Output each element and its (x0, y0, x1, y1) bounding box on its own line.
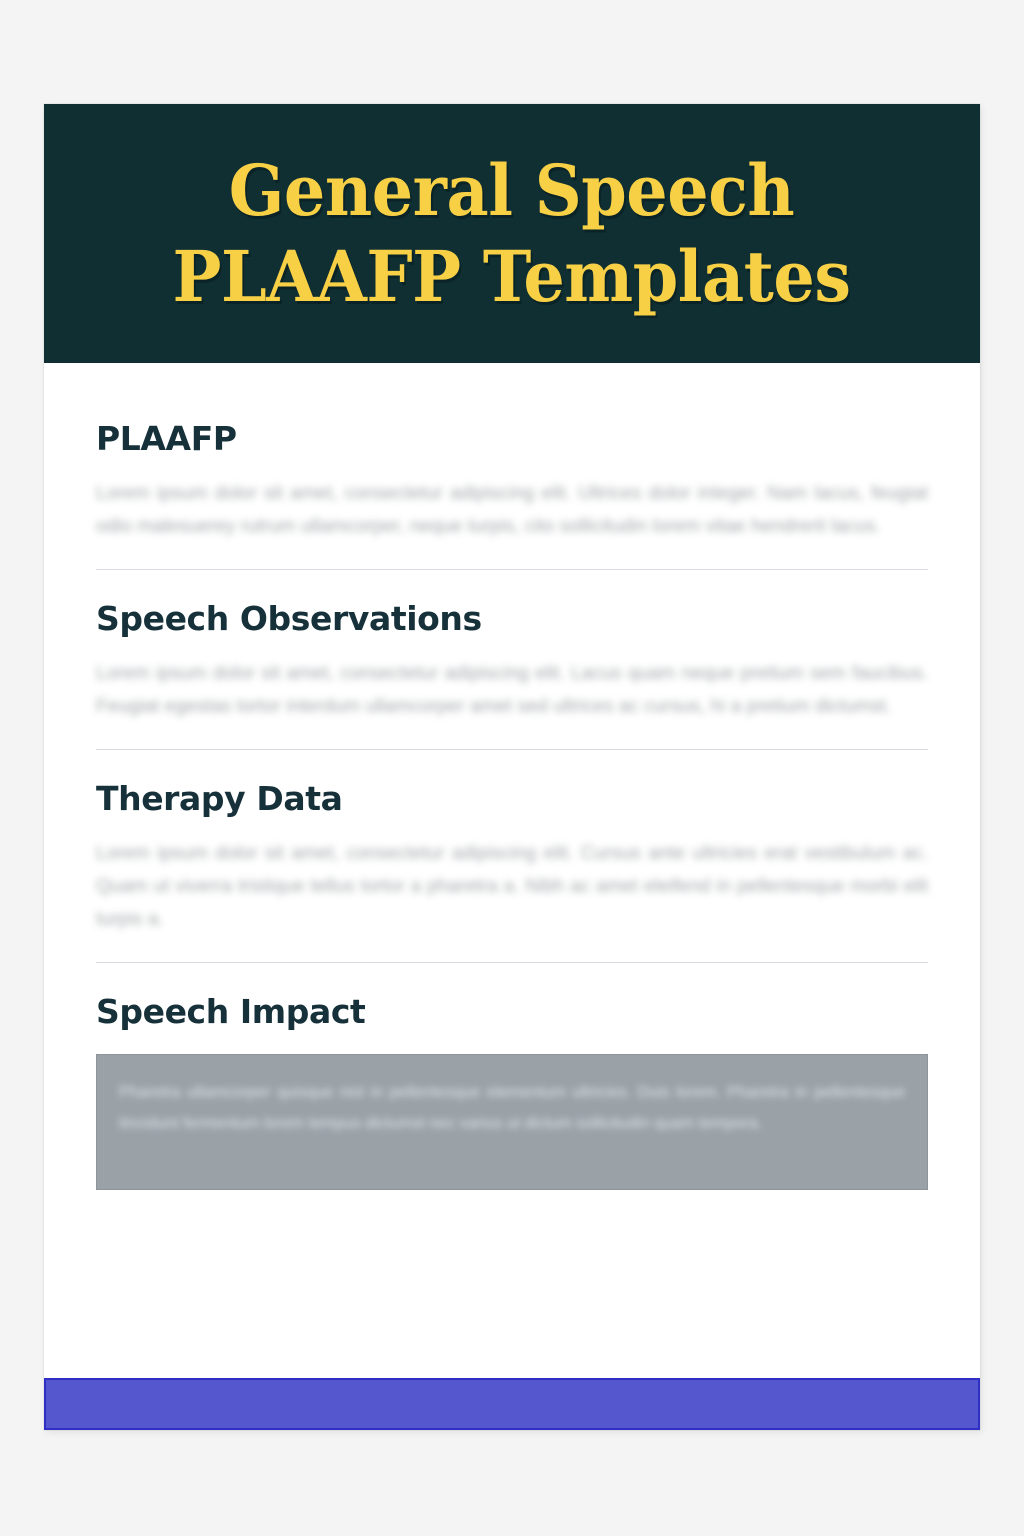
section-body-plaafp: Lorem ipsum dolor sit amet, consectetur … (96, 477, 928, 543)
page-title-line-2: PLAAFP Templates (173, 234, 851, 320)
section-heading-therapy-data: Therapy Data (96, 779, 928, 819)
section-therapy-data: Therapy Data Lorem ipsum dolor sit amet,… (96, 750, 928, 963)
section-body-speech-observations: Lorem ipsum dolor sit amet, consectetur … (96, 657, 928, 723)
page-title: General Speech PLAAFP Templates (173, 148, 851, 320)
section-heading-speech-observations: Speech Observations (96, 599, 928, 639)
template-card: General Speech PLAAFP Templates PLAAFP L… (44, 104, 980, 1430)
footer-accent-bar (44, 1378, 980, 1430)
section-speech-impact: Speech Impact Pharetra ullamcorper quisq… (96, 963, 928, 1190)
section-plaafp: PLAAFP Lorem ipsum dolor sit amet, conse… (96, 363, 928, 570)
section-body-therapy-data: Lorem ipsum dolor sit amet, consectetur … (96, 837, 928, 936)
speech-impact-callout: Pharetra ullamcorper quisque nisl in pel… (96, 1054, 928, 1190)
speech-impact-callout-text: Pharetra ullamcorper quisque nisl in pel… (119, 1077, 905, 1139)
page-title-line-1: General Speech (173, 148, 851, 234)
card-body: PLAAFP Lorem ipsum dolor sit amet, conse… (44, 363, 980, 1430)
section-heading-plaafp: PLAAFP (96, 419, 928, 459)
header-banner: General Speech PLAAFP Templates (44, 104, 980, 363)
section-heading-speech-impact: Speech Impact (96, 992, 928, 1032)
section-speech-observations: Speech Observations Lorem ipsum dolor si… (96, 570, 928, 750)
page-canvas: General Speech PLAAFP Templates PLAAFP L… (0, 0, 1024, 1536)
